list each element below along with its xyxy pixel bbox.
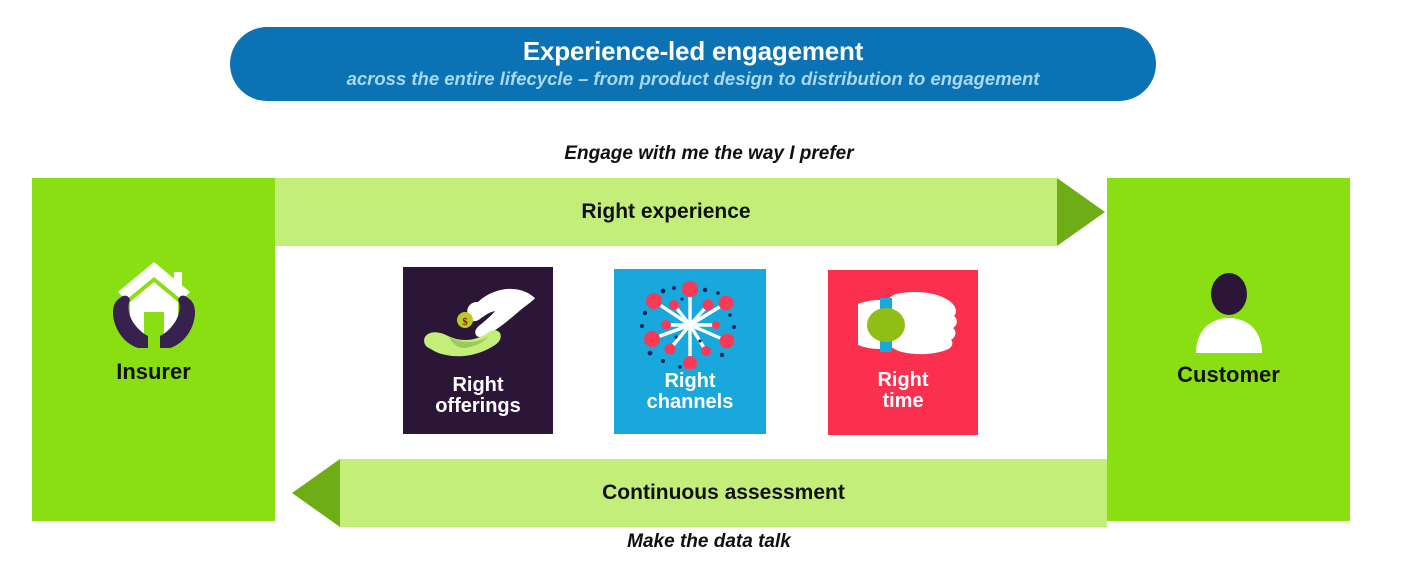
page-title: Experience-led engagement: [523, 38, 863, 65]
pillar-label: Right time: [877, 370, 928, 413]
smartwatch-on-wrist-icon: [828, 288, 978, 360]
pillar-label: Right channels: [647, 371, 734, 414]
hand-giving-coin-icon: $: [403, 285, 553, 365]
insurer-label: Insurer: [32, 359, 275, 385]
customer-label: Customer: [1107, 362, 1350, 388]
title-banner: Experience-led engagement across the ent…: [230, 27, 1156, 101]
caption-top: Engage with me the way I prefer: [0, 143, 1418, 165]
flow-bar-right-experience: Right experience: [275, 178, 1105, 246]
network-burst-icon: [614, 281, 766, 369]
arrow-left-icon: [292, 459, 340, 527]
house-in-hands-icon: [32, 250, 275, 355]
pillar-card-right-offerings[interactable]: $ Right offerings: [403, 267, 553, 434]
customer-content: Customer: [1107, 271, 1350, 388]
page-subtitle: across the entire lifecycle – from produ…: [347, 68, 1040, 90]
pillar-card-right-time[interactable]: Right time: [828, 270, 978, 435]
actor-panel-customer: Customer: [1107, 178, 1350, 521]
flow-bar-continuous-assessment: Continuous assessment: [292, 459, 1107, 527]
person-icon: [1107, 271, 1350, 358]
svg-text:$: $: [462, 316, 468, 328]
actor-panel-insurer: Insurer: [32, 178, 275, 521]
flow-bar-label: Continuous assessment: [340, 459, 1107, 527]
arrow-right-icon: [1057, 178, 1105, 246]
caption-bottom: Make the data talk: [0, 531, 1418, 553]
insurer-content: Insurer: [32, 250, 275, 385]
pillar-label: Right offerings: [435, 375, 521, 418]
flow-bar-label: Right experience: [275, 178, 1057, 246]
pillar-card-right-channels[interactable]: Right channels: [614, 269, 766, 434]
